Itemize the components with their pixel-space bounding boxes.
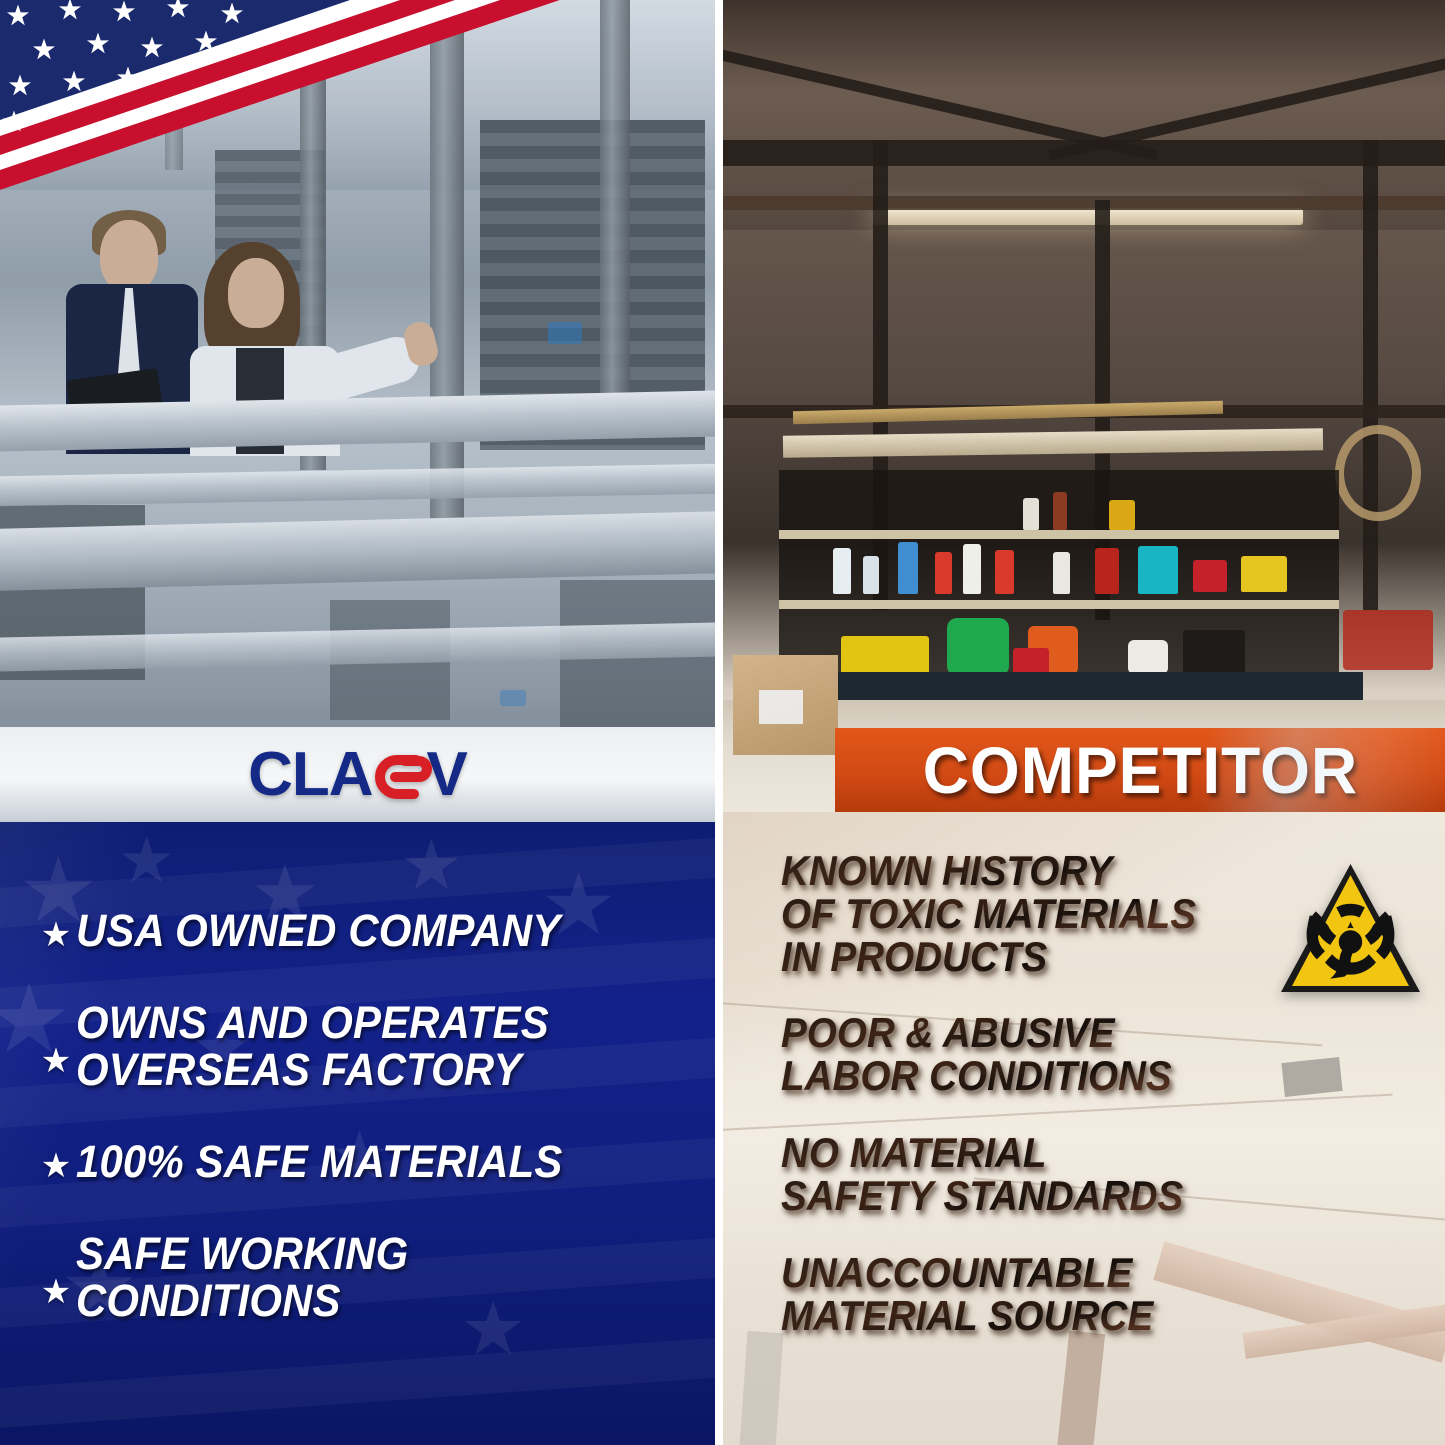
workshop-post	[1363, 140, 1378, 610]
benefit-text: OWNS AND OPERATES OVERSEAS FACTORY	[76, 1000, 549, 1093]
shelf-board	[779, 600, 1339, 609]
benefit-item: ★ 100% SAFE MATERIALS	[36, 1139, 691, 1185]
benefits-list: ★ USA OWNED COMPANY ★ OWNS AND OPERATES …	[0, 822, 715, 1445]
competitor-title: COMPETITOR	[922, 737, 1357, 803]
workshop-beam	[723, 140, 1445, 166]
negative-item: NO MATERIAL SAFETY STANDARDS	[781, 1132, 1425, 1218]
workshop-lumber	[783, 428, 1323, 458]
negative-line: POOR & ABUSIVE	[781, 1012, 1373, 1055]
workshop-tool-green	[947, 618, 1009, 676]
negative-item: UNACCOUNTABLE MATERIAL SOURCE	[781, 1252, 1425, 1338]
brand-facility-photo	[0, 0, 715, 822]
benefit-line: OWNS AND OPERATES	[76, 1000, 549, 1046]
negative-item: POOR & ABUSIVE LABOR CONDITIONS	[781, 1012, 1425, 1098]
workshop-light	[873, 208, 1303, 225]
benefit-line: CONDITIONS	[76, 1278, 408, 1324]
benefits-panel: ★ ★ ★ ★ ★ ★ ★ ★ ★ ★ ★ USA OWNED COMPANY …	[0, 822, 715, 1445]
negative-line: MATERIAL SOURCE	[781, 1295, 1373, 1338]
chemical-container	[1241, 556, 1287, 592]
benefit-text: SAFE WORKING CONDITIONS	[76, 1231, 408, 1324]
shelf-board	[779, 530, 1339, 539]
panel-divider	[715, 0, 723, 1445]
benefit-text: USA OWNED COMPANY	[76, 908, 560, 954]
workshop-beam	[723, 196, 1445, 210]
brand-panel: CLA V ★ ★ ★ ★ ★ ★	[0, 0, 715, 1445]
chemical-bottle	[1053, 552, 1070, 594]
workshop-red-equipment	[1343, 610, 1433, 670]
workshop-toolbox	[841, 636, 929, 674]
star-bullet-icon: ★	[36, 1149, 76, 1183]
biohazard-warning-icon	[1278, 858, 1423, 998]
shelf-item	[1109, 500, 1135, 530]
benefit-item: ★ USA OWNED COMPANY	[36, 908, 691, 954]
benefit-item: ★ SAFE WORKING CONDITIONS	[36, 1231, 691, 1324]
brand-logo: CLA V	[248, 744, 467, 806]
chemical-container	[1193, 560, 1227, 592]
chemical-bottle	[898, 542, 918, 594]
benefit-line: OVERSEAS FACTORY	[76, 1047, 549, 1093]
shipping-label	[759, 690, 803, 724]
workshop-tool-dark	[1183, 630, 1245, 674]
competitor-workshop-photo	[723, 0, 1445, 822]
negative-line: NO MATERIAL	[781, 1132, 1373, 1175]
chemical-bottle	[935, 552, 952, 594]
brand-logo-e-icon	[371, 744, 435, 806]
benefit-text: 100% SAFE MATERIALS	[76, 1139, 562, 1185]
brand-logo-text-before: CLA	[248, 744, 372, 806]
comparison-infographic: CLA V ★ ★ ★ ★ ★ ★	[0, 0, 1445, 1445]
benefit-line: 100% SAFE MATERIALS	[76, 1139, 562, 1185]
chemical-bottle	[995, 550, 1014, 594]
benefit-line: SAFE WORKING	[76, 1231, 408, 1277]
photo-color-grade	[0, 0, 715, 822]
chemical-bottle	[863, 556, 879, 594]
brand-logo-bar: CLA V	[0, 727, 715, 822]
competitor-panel: COMPETITOR KNOWN HISTORY OF TOXIC MATERI…	[723, 0, 1445, 1445]
workshop-tool-white	[1128, 640, 1168, 674]
negative-line: UNACCOUNTABLE	[781, 1252, 1373, 1295]
chemical-container	[1138, 546, 1178, 594]
negative-line: LABOR CONDITIONS	[781, 1055, 1373, 1098]
shelf-item	[1053, 492, 1067, 530]
shelf-item	[1023, 498, 1039, 530]
negative-line: SAFETY STANDARDS	[781, 1175, 1373, 1218]
star-bullet-icon: ★	[36, 1275, 76, 1309]
competitor-banner: COMPETITOR	[835, 728, 1445, 812]
benefit-line: USA OWNED COMPANY	[76, 908, 560, 954]
benefit-item: ★ OWNS AND OPERATES OVERSEAS FACTORY	[36, 1000, 691, 1093]
star-bullet-icon: ★	[36, 1044, 76, 1078]
chemical-bottle	[833, 548, 851, 594]
chemical-bottle	[1095, 548, 1119, 594]
chemical-bottle	[963, 544, 981, 594]
workshop-rope-coil	[1335, 425, 1421, 521]
star-bullet-icon: ★	[36, 918, 76, 952]
